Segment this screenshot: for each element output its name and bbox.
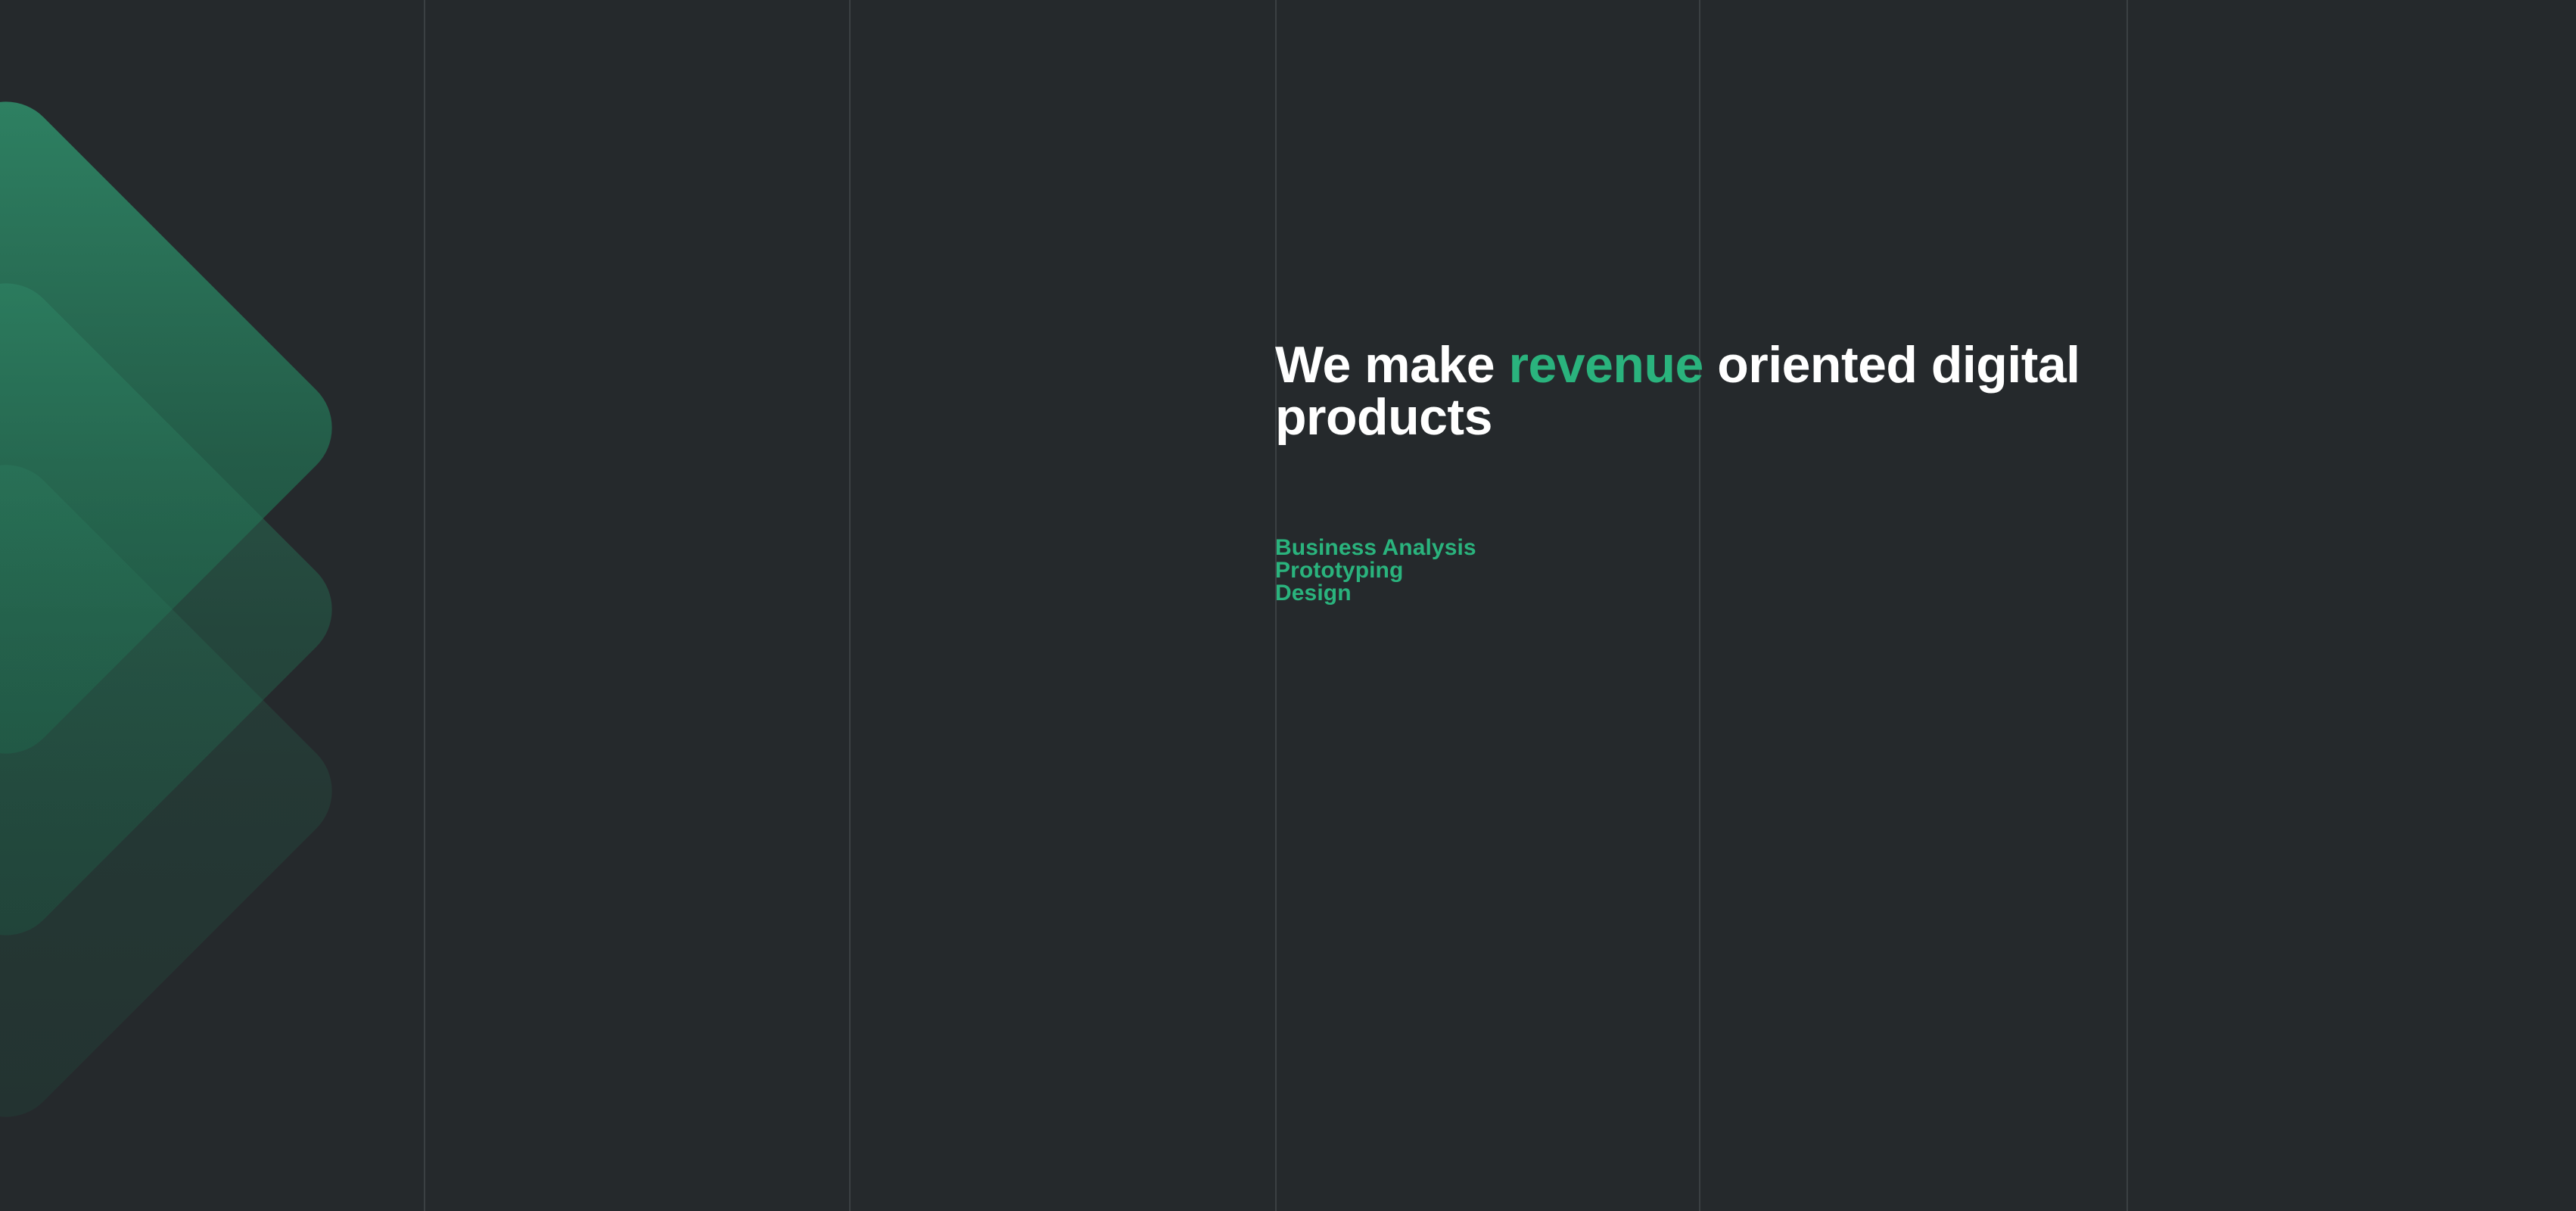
page-title: We make revenue oriented digital product… — [1275, 339, 2229, 444]
hero-section: We make revenue oriented digital product… — [0, 0, 2576, 1211]
decorative-shapes — [0, 0, 757, 1211]
grid-line-3 — [1275, 0, 1277, 1211]
grid-line-5 — [2126, 0, 2128, 1211]
service-link-prototyping[interactable]: Prototyping — [1275, 559, 1403, 582]
service-link-design[interactable]: Design — [1275, 582, 1352, 605]
hero-content: We make revenue oriented digital product… — [1275, 339, 2410, 605]
service-link-business-analysis[interactable]: Business Analysis — [1275, 537, 1476, 559]
heading-accent-word: revenue — [1508, 336, 1703, 394]
list-item: Business Analysis — [1275, 537, 2410, 559]
list-item: Prototyping — [1275, 559, 2410, 582]
grid-line-4 — [1699, 0, 1700, 1211]
list-item: Design — [1275, 582, 2410, 605]
heading-text-before: We make — [1275, 336, 1508, 394]
service-links-list: Business Analysis Prototyping Design — [1275, 537, 2410, 605]
grid-line-2 — [849, 0, 851, 1211]
